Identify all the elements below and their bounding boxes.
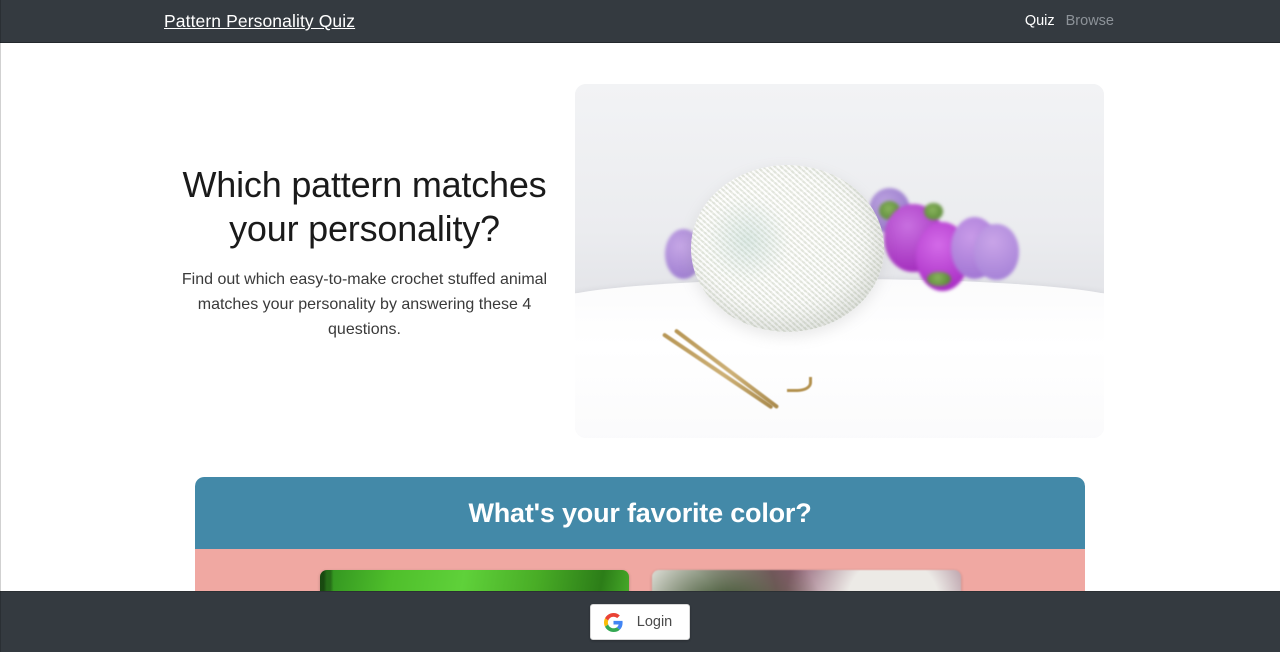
login-button-label: Login xyxy=(637,612,672,632)
top-navigation-bar: Pattern Personality Quiz Quiz Browse xyxy=(0,0,1280,43)
quiz-question-card: What's your favorite color? xyxy=(195,477,1085,591)
question-banner: What's your favorite color? xyxy=(195,477,1085,549)
answer-option-green[interactable] xyxy=(320,570,629,591)
leaf-icon xyxy=(927,272,951,287)
page-subtitle: Find out which easy-to-make crochet stuf… xyxy=(176,267,553,342)
google-login-button[interactable]: Login xyxy=(590,604,690,640)
hero-section: Which pattern matches your personality? … xyxy=(0,43,1280,453)
hero-image xyxy=(575,84,1104,438)
viewport-left-edge xyxy=(0,0,1,652)
bottom-login-bar: Login xyxy=(0,591,1280,652)
page-content: Which pattern matches your personality? … xyxy=(0,43,1280,591)
nav-link-quiz[interactable]: Quiz xyxy=(1025,12,1055,31)
hero-text-block: Which pattern matches your personality? … xyxy=(176,163,553,342)
yarn-ball xyxy=(691,165,884,331)
hero-photo-scene xyxy=(575,84,1104,438)
question-text: What's your favorite color? xyxy=(468,497,811,530)
answer-option-flower[interactable] xyxy=(652,570,961,591)
nav-links: Quiz Browse xyxy=(1025,12,1114,31)
crochet-hook-icon xyxy=(660,326,813,395)
app-root: Pattern Personality Quiz Quiz Browse Whi… xyxy=(0,0,1280,652)
google-g-icon xyxy=(604,613,623,632)
brand-title[interactable]: Pattern Personality Quiz xyxy=(164,10,355,32)
page-title: Which pattern matches your personality? xyxy=(176,163,553,251)
answer-options-list xyxy=(195,549,1085,591)
nav-link-browse[interactable]: Browse xyxy=(1066,12,1114,31)
yarn-tint xyxy=(703,195,792,285)
